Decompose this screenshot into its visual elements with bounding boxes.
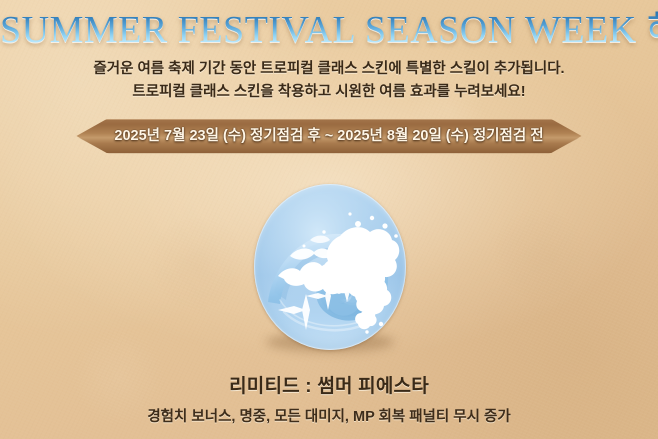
wave-icon (254, 184, 406, 350)
period-banner: 2025년 7월 23일 (수) 정기점검 후 ~ 2025년 8월 20일 (… (76, 119, 581, 153)
subtitle-line-1: 즐거운 여름 축제 기간 동안 트로피컬 클래스 스킨에 특별한 스킬이 추가됩… (0, 58, 658, 80)
reward-effects: 경험치 보너스, 명중, 모든 대미지, MP 회복 패널티 무시 증가 (0, 405, 658, 426)
period-banner-container: 2025년 7월 23일 (수) 정기점검 후 ~ 2025년 8월 20일 (… (0, 119, 658, 153)
wave-emblem (254, 184, 406, 350)
page-title: SUMMER FESTIVAL SEASON WEEK 혜택 (0, 8, 658, 52)
page-title-container: SUMMER FESTIVAL SEASON WEEK 혜택 (0, 8, 658, 52)
subtitle-line-2: 트로피컬 클래스 스킨을 착용하고 시원한 여름 효과를 누려보세요! (0, 81, 658, 103)
reward-name: 리미티드 : 썸머 피에스타 (0, 371, 658, 398)
promo-banner-page: SUMMER FESTIVAL SEASON WEEK 혜택 즐거운 여름 축제… (0, 0, 658, 439)
